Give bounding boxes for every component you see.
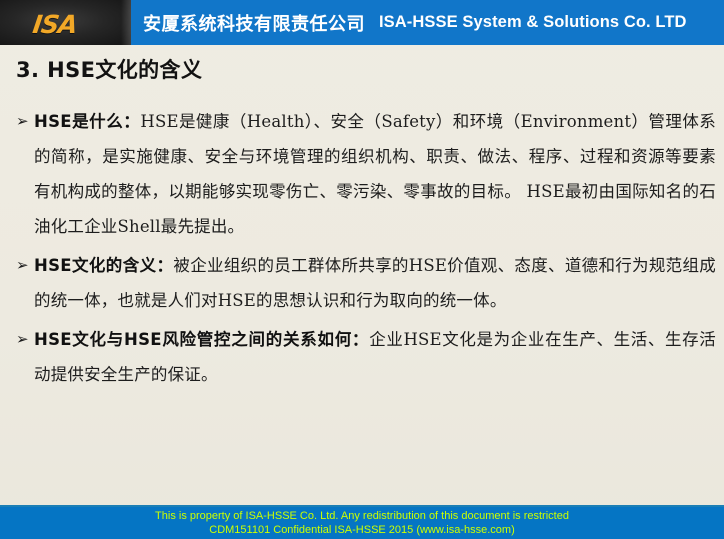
page-title: 3. HSE文化的含义 [16, 54, 202, 84]
bullet-paragraph: HSE是什么：HSE是健康（Health）、安全（Safety）和环境（Envi… [34, 104, 716, 244]
bullet-lead-label: HSE是什么： [34, 112, 140, 131]
arrow-bullet-icon: ➢ [16, 322, 34, 357]
bullet-paragraph: HSE文化的含义：被企业组织的员工群体所共享的HSE价值观、态度、道德和行为规范… [34, 248, 716, 318]
arrow-bullet-icon: ➢ [16, 248, 34, 283]
bullet-lead-label: HSE文化的含义： [34, 256, 173, 275]
list-item: ➢ HSE文化的含义：被企业组织的员工群体所共享的HSE价值观、态度、道德和行为… [16, 248, 716, 318]
slide-body: ➢ HSE是什么：HSE是健康（Health）、安全（Safety）和环境（En… [16, 104, 716, 396]
list-item: ➢ HSE文化与HSE风险管控之间的关系如何：企业HSE文化是为企业在生产、生活… [16, 322, 716, 392]
slide-canvas: ISA 安厦系统科技有限责任公司 ISA-HSSE System & Solut… [0, 0, 724, 539]
isa-logo-icon: ISA [31, 10, 79, 39]
list-item: ➢ HSE是什么：HSE是健康（Health）、安全（Safety）和环境（En… [16, 104, 716, 244]
company-name-en: ISA-HSSE System & Solutions Co. LTD [379, 13, 687, 32]
footer-document-line: CDM151101 Confidential ISA-HSSE 2015 (ww… [209, 523, 514, 537]
slide-footer: This is property of ISA-HSSE Co. Ltd. An… [0, 507, 724, 539]
bullet-paragraph: HSE文化与HSE风险管控之间的关系如何：企业HSE文化是为企业在生产、生活、生… [34, 322, 716, 392]
arrow-bullet-icon: ➢ [16, 104, 34, 139]
bullet-lead-label: HSE文化与HSE风险管控之间的关系如何： [34, 330, 369, 349]
header-title-bar: 安厦系统科技有限责任公司 ISA-HSSE System & Solutions… [131, 0, 724, 45]
logo-zone: ISA [0, 0, 131, 45]
footer-copyright-line: This is property of ISA-HSSE Co. Ltd. An… [155, 509, 569, 523]
slide-header: ISA 安厦系统科技有限责任公司 ISA-HSSE System & Solut… [0, 0, 724, 45]
company-name-cn: 安厦系统科技有限责任公司 [143, 10, 365, 36]
